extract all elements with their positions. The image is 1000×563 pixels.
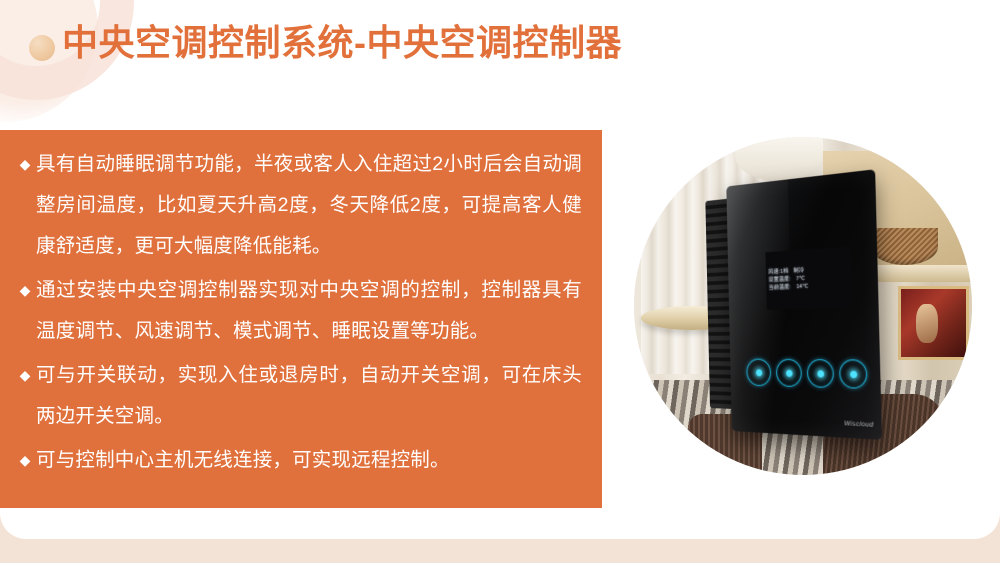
list-item: ◆ 可与控制中心主机无线连接，可实现远程控制。 <box>14 440 586 481</box>
touch-button-1[interactable] <box>746 358 771 386</box>
room-framed-picture <box>898 286 969 360</box>
feature-panel: ◆ 具有自动睡眠调节功能，半夜或客人入住超过2小时后会自动调整房间温度，比如夏天… <box>0 130 602 508</box>
lcd-set-temp-label: 设置温度: <box>768 276 790 283</box>
diamond-bullet-icon: ◆ <box>14 270 36 311</box>
list-item-text: 具有自动睡眠调节功能，半夜或客人入住超过2小时后会自动调整房间温度，比如夏天升高… <box>36 144 586 267</box>
header-dot-icon <box>29 35 55 61</box>
list-item: ◆ 通过安装中央空调控制器实现对中央空调的控制，控制器具有温度调节、风速调节、模… <box>14 270 586 352</box>
lcd-current-temp-label: 当前温度: <box>768 284 790 291</box>
list-item-text: 可与开关联动，实现入住或退房时，自动开关空调，可在床头两边开关空调。 <box>36 355 586 437</box>
touch-button-3[interactable] <box>807 359 834 388</box>
diamond-bullet-icon: ◆ <box>14 144 36 185</box>
device-lcd-screen: 风速:1档 制冷 设置温度: 7℃ 当前温度: 14℃ <box>765 246 851 309</box>
feature-bullet-list: ◆ 具有自动睡眠调节功能，半夜或客人入住超过2小时后会自动调整房间温度，比如夏天… <box>14 144 586 484</box>
slide-card: 中央空调控制系统-中央空调控制器 ◆ 具有自动睡眠调节功能，半夜或客人入住超过2… <box>0 0 1000 539</box>
diamond-bullet-icon: ◆ <box>14 440 36 481</box>
page-title: 中央空调控制系统-中央空调控制器 <box>62 19 622 67</box>
device-touch-button-row <box>746 347 868 401</box>
room-scene: 风速:1档 制冷 设置温度: 7℃ 当前温度: 14℃ <box>634 137 972 475</box>
list-item: ◆ 可与开关联动，实现入住或退房时，自动开关空调，可在床头两边开关空调。 <box>14 355 586 437</box>
device-glass-face: 风速:1档 制冷 设置温度: 7℃ 当前温度: 14℃ <box>726 169 882 440</box>
touch-button-2[interactable] <box>776 359 802 387</box>
ac-controller-device: 风速:1档 制冷 设置温度: 7℃ 当前温度: 14℃ <box>726 169 882 440</box>
device-brand-label: Wiscloud <box>844 419 874 428</box>
lcd-fan-speed-label: 风速:1档 <box>768 268 788 275</box>
product-photo: 风速:1档 制冷 设置温度: 7℃ 当前温度: 14℃ <box>634 137 972 475</box>
list-item-text: 可与控制中心主机无线连接，可实现远程控制。 <box>36 440 586 481</box>
lcd-mode-value: 制冷 <box>793 267 804 274</box>
list-item: ◆ 具有自动睡眠调节功能，半夜或客人入住超过2小时后会自动调整房间温度，比如夏天… <box>14 144 586 267</box>
lcd-current-temp-value: 14℃ <box>796 283 808 290</box>
list-item-text: 通过安装中央空调控制器实现对中央空调的控制，控制器具有温度调节、风速调节、模式调… <box>36 270 586 352</box>
lcd-line-fan-speed: 风速:1档 制冷 <box>768 265 847 276</box>
lcd-set-temp-value: 7℃ <box>796 275 805 281</box>
touch-button-4[interactable] <box>839 359 867 388</box>
diamond-bullet-icon: ◆ <box>14 355 36 396</box>
